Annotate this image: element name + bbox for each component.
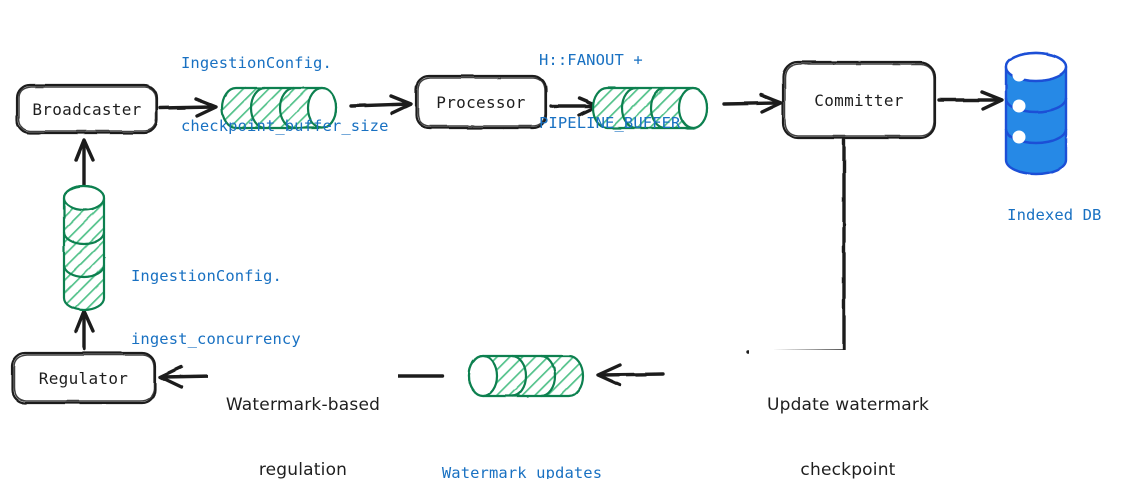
indexed-db-label: Indexed DB bbox=[1007, 206, 1101, 224]
indexed-db-shape bbox=[1006, 53, 1066, 174]
broadcaster-label: Broadcaster bbox=[32, 100, 141, 119]
fanout-buffer-line1: H::FANOUT + bbox=[539, 50, 680, 70]
annotation-watermark-updates: Watermark updates (ingest_hi_tx) bbox=[384, 421, 660, 479]
annotation-checkpoint-buffer-size: IngestionConfig. checkpoint_buffer_size bbox=[181, 11, 389, 179]
arrow-committer-to-db bbox=[939, 92, 1002, 109]
edge-label-update-watermark-checkpoint: Update watermark checkpoint bbox=[749, 350, 947, 479]
regulator-label: Regulator bbox=[39, 369, 128, 388]
broadcaster-node[interactable]: Broadcaster bbox=[17, 85, 157, 133]
update-watermark-line2: checkpoint bbox=[753, 459, 943, 479]
update-watermark-line1: Update watermark bbox=[753, 394, 943, 416]
arrow-concurrency-to-broadcaster bbox=[76, 140, 93, 185]
arrow-committer-to-watermark bbox=[598, 140, 844, 385]
fanout-buffer-line2: PIPELINE_BUFFER bbox=[539, 113, 680, 133]
indexed-db-label-group: Indexed DB bbox=[986, 183, 1086, 247]
processor-node[interactable]: Processor bbox=[416, 76, 546, 128]
diagram-canvas: Broadcaster Processor Committer Regulato… bbox=[0, 0, 1124, 479]
buffer-cylinder-watermark bbox=[469, 356, 583, 396]
ingest-concurrency-line1: IngestionConfig. bbox=[131, 266, 301, 286]
ingest-concurrency-line2: ingest_concurrency bbox=[131, 329, 301, 349]
watermark-regulation-line2: regulation bbox=[212, 459, 394, 479]
processor-label: Processor bbox=[436, 93, 525, 112]
arrow-regulator-to-concurrency bbox=[76, 311, 93, 349]
checkpoint-buffer-line2: checkpoint_buffer_size bbox=[181, 116, 389, 136]
watermark-regulation-line1: Watermark-based bbox=[212, 394, 394, 416]
committer-label: Committer bbox=[814, 91, 903, 110]
arrow-buffer2-to-committer bbox=[724, 95, 781, 112]
watermark-updates-line1: Watermark updates bbox=[384, 463, 660, 479]
annotation-fanout-pipeline-buffer: H::FANOUT + PIPELINE_BUFFER bbox=[539, 8, 680, 176]
concurrency-cylinder bbox=[64, 186, 104, 310]
checkpoint-buffer-line1: IngestionConfig. bbox=[181, 53, 389, 73]
committer-node[interactable]: Committer bbox=[783, 62, 935, 138]
edge-label-watermark-regulation: Watermark-based regulation bbox=[208, 350, 398, 479]
